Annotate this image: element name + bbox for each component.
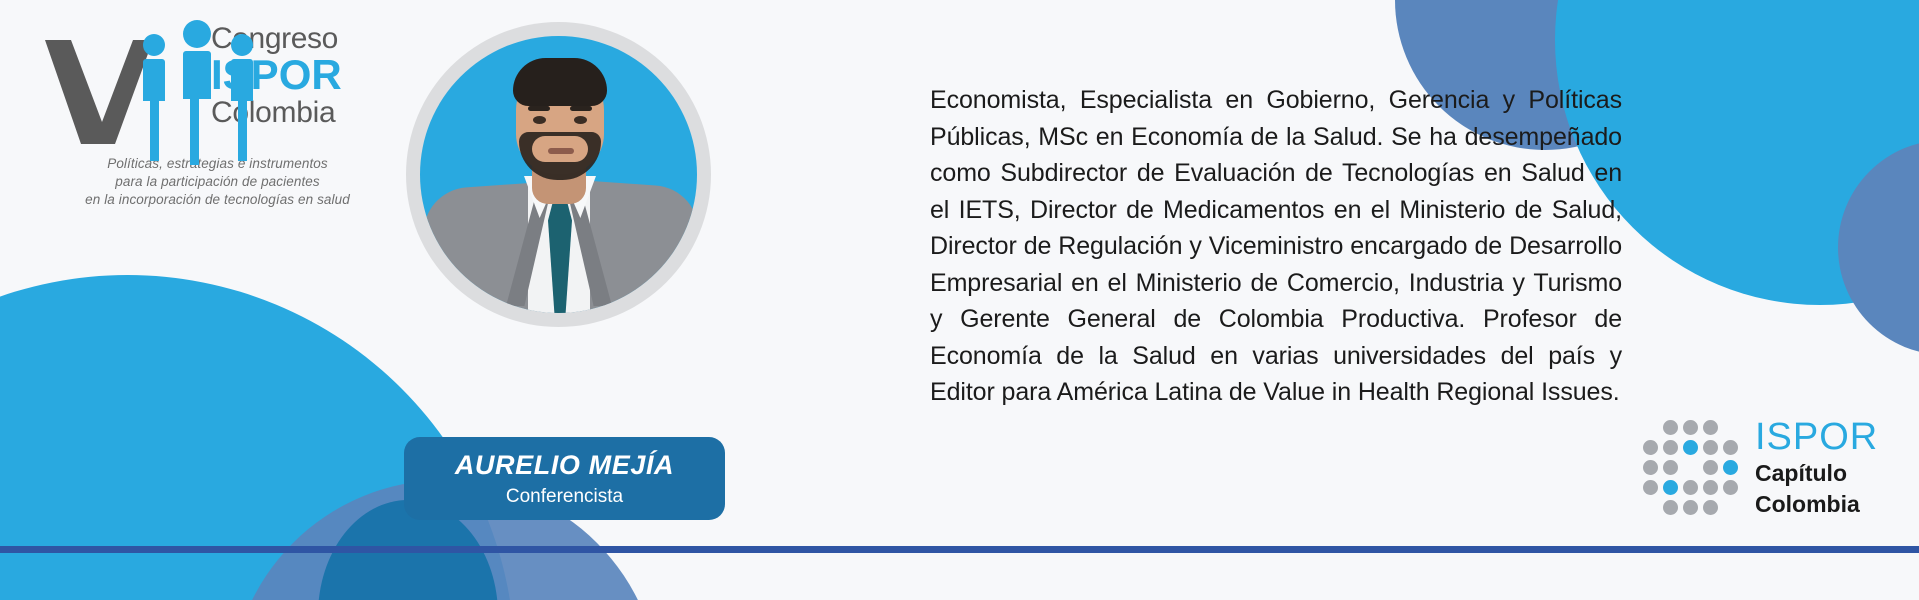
portrait-brow-right — [570, 106, 592, 111]
bottom-divider-line — [0, 546, 1919, 553]
tagline-line-3: en la incorporación de tecnologías en sa… — [45, 191, 390, 209]
portrait-eye-right — [574, 116, 587, 124]
event-logo: Congreso ISPOR Colombia Políticas, estra… — [45, 18, 390, 208]
speaker-name: AURELIO MEJÍA — [455, 452, 674, 479]
portrait-eye-left — [533, 116, 546, 124]
speaker-name-banner: AURELIO MEJÍA Conferencista — [404, 437, 725, 520]
portrait-mouth — [548, 148, 574, 154]
ispor-chapter-logo: ISPOR Capítulo Colombia — [1643, 418, 1878, 518]
photo-inner-circle — [420, 36, 697, 313]
roman-numeral-v-icon — [45, 40, 153, 144]
portrait-brow-left — [528, 106, 550, 111]
tagline-line-1: Políticas, estrategias e instrumentos — [45, 155, 390, 173]
ispor-dot-matrix-icon — [1643, 420, 1739, 516]
chapter-brand: ISPOR — [1755, 418, 1878, 456]
three-people-icon — [143, 18, 253, 144]
tagline-line-2: para la participación de pacientes — [45, 173, 390, 191]
event-tagline: Políticas, estrategias e instrumentos pa… — [45, 155, 390, 208]
speaker-bio: Economista, Especialista en Gobierno, Ge… — [930, 82, 1622, 411]
speaker-role: Conferencista — [506, 487, 623, 506]
chapter-line-2: Colombia — [1755, 492, 1878, 518]
speaker-photo — [406, 22, 711, 327]
portrait-hair — [513, 58, 607, 106]
banner-canvas: Congreso ISPOR Colombia Políticas, estra… — [0, 0, 1919, 600]
chapter-line-1: Capítulo — [1755, 461, 1878, 487]
viii-logo-mark — [45, 18, 205, 143]
